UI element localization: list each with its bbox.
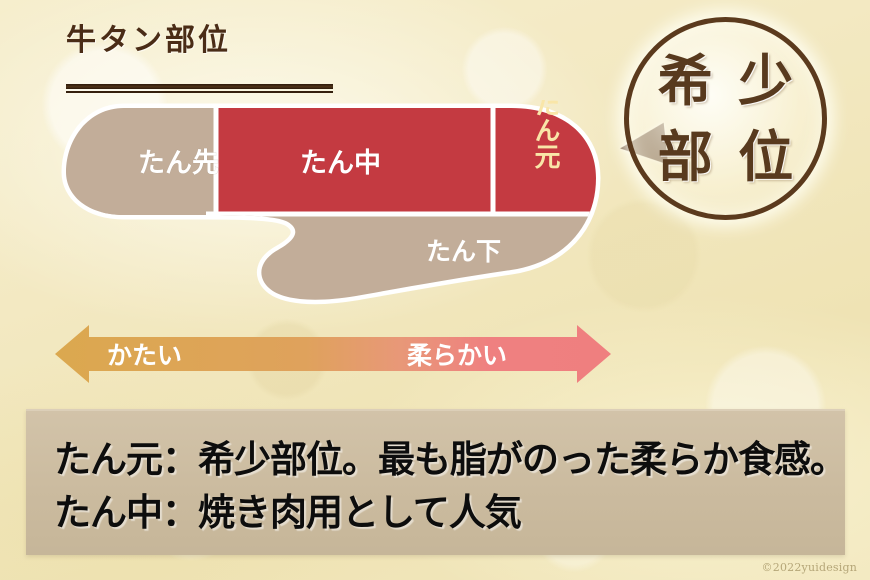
title-underline-thick	[66, 84, 333, 89]
description-box: たん元：希少部位。最も脂がのった柔らか食感。 たん中：焼き肉用として人気	[26, 409, 845, 555]
badge-circle: 希 少 部 位	[624, 17, 827, 220]
hardness-label-soft: 柔らかい	[407, 341, 507, 370]
beef-tongue-diagram: たん先 たん中 たん元 たん下	[56, 100, 608, 305]
segment-label-tanchu: たん中	[300, 148, 381, 179]
infographic-canvas: 牛タン部位 希 少 部 位	[0, 0, 870, 580]
badge-char-2: 少	[738, 53, 793, 108]
badge-char-3: 部	[658, 129, 713, 184]
badge-char-1: 希	[658, 53, 713, 108]
title-underline	[66, 84, 333, 93]
copyright-credit: ©2022yuidesign	[762, 561, 857, 574]
segment-tanshita	[56, 212, 608, 305]
hardness-scale: かたい 柔らかい	[55, 318, 611, 390]
page-title-text: 牛タン部位	[66, 24, 346, 57]
segment-label-tanshita: たん下	[426, 237, 501, 266]
description-line-2: たん中：焼き肉用として人気	[54, 486, 817, 539]
title-underline-thin	[66, 91, 333, 93]
hardness-label-hard: かたい	[107, 341, 182, 370]
badge-char-4: 位	[738, 129, 793, 184]
page-title: 牛タン部位	[66, 24, 346, 57]
description-line-1: たん元：希少部位。最も脂がのった柔らか食感。	[54, 433, 817, 486]
segment-label-tansaki: たん先	[138, 148, 219, 179]
segment-label-tanmoto: たん元	[530, 100, 560, 169]
rare-cut-badge: 希 少 部 位	[624, 17, 827, 220]
